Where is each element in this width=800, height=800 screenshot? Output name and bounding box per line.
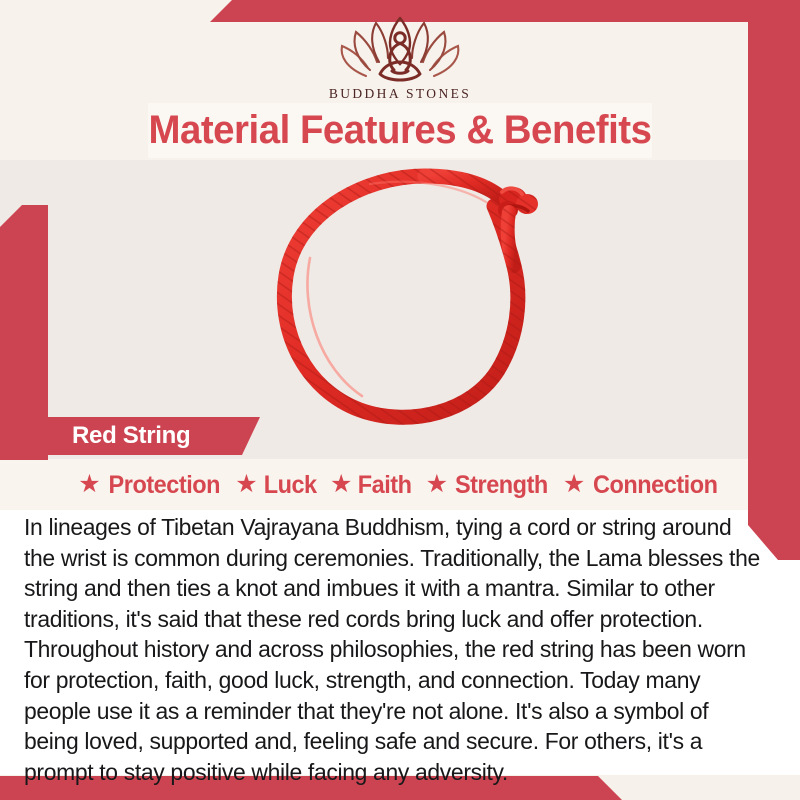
infographic-poster: BUDDHA STONES Material Features & Benefi… [0,0,800,800]
star-icon: ★ [330,472,352,497]
brand-logo: BUDDHA STONES [0,12,800,102]
star-icon: ★ [426,472,448,497]
benefit-item-strength: ★ Strength [421,471,556,500]
lotus-meditation-figure-icon [336,12,464,84]
star-icon: ★ [563,472,585,497]
star-icon: ★ [235,472,257,497]
product-image [250,158,590,430]
benefit-item-protection: ★ Protection [73,471,228,500]
benefit-label: Faith [358,471,412,500]
benefit-item-faith: ★ Faith [325,471,419,500]
brand-name: BUDDHA STONES [329,86,471,102]
section-banner: Red String [28,417,260,455]
benefit-item-luck: ★ Luck [230,471,323,500]
benefit-label: Luck [263,471,316,500]
section-banner-label: Red String [28,422,190,450]
benefits-list: ★ Protection ★ Luck ★ Faith ★ Strength ★… [40,466,760,504]
star-icon: ★ [78,472,100,497]
benefit-item-connection: ★ Connection [558,471,727,500]
benefit-label: Strength [455,471,548,500]
page-title-text: Material Features & Benefits [149,108,652,153]
page-title: Material Features & Benefits [148,103,652,158]
benefit-label: Protection [108,471,220,500]
benefit-label: Connection [593,471,718,500]
description-paragraph: In lineages of Tibetan Vajrayana Buddhis… [24,512,761,787]
